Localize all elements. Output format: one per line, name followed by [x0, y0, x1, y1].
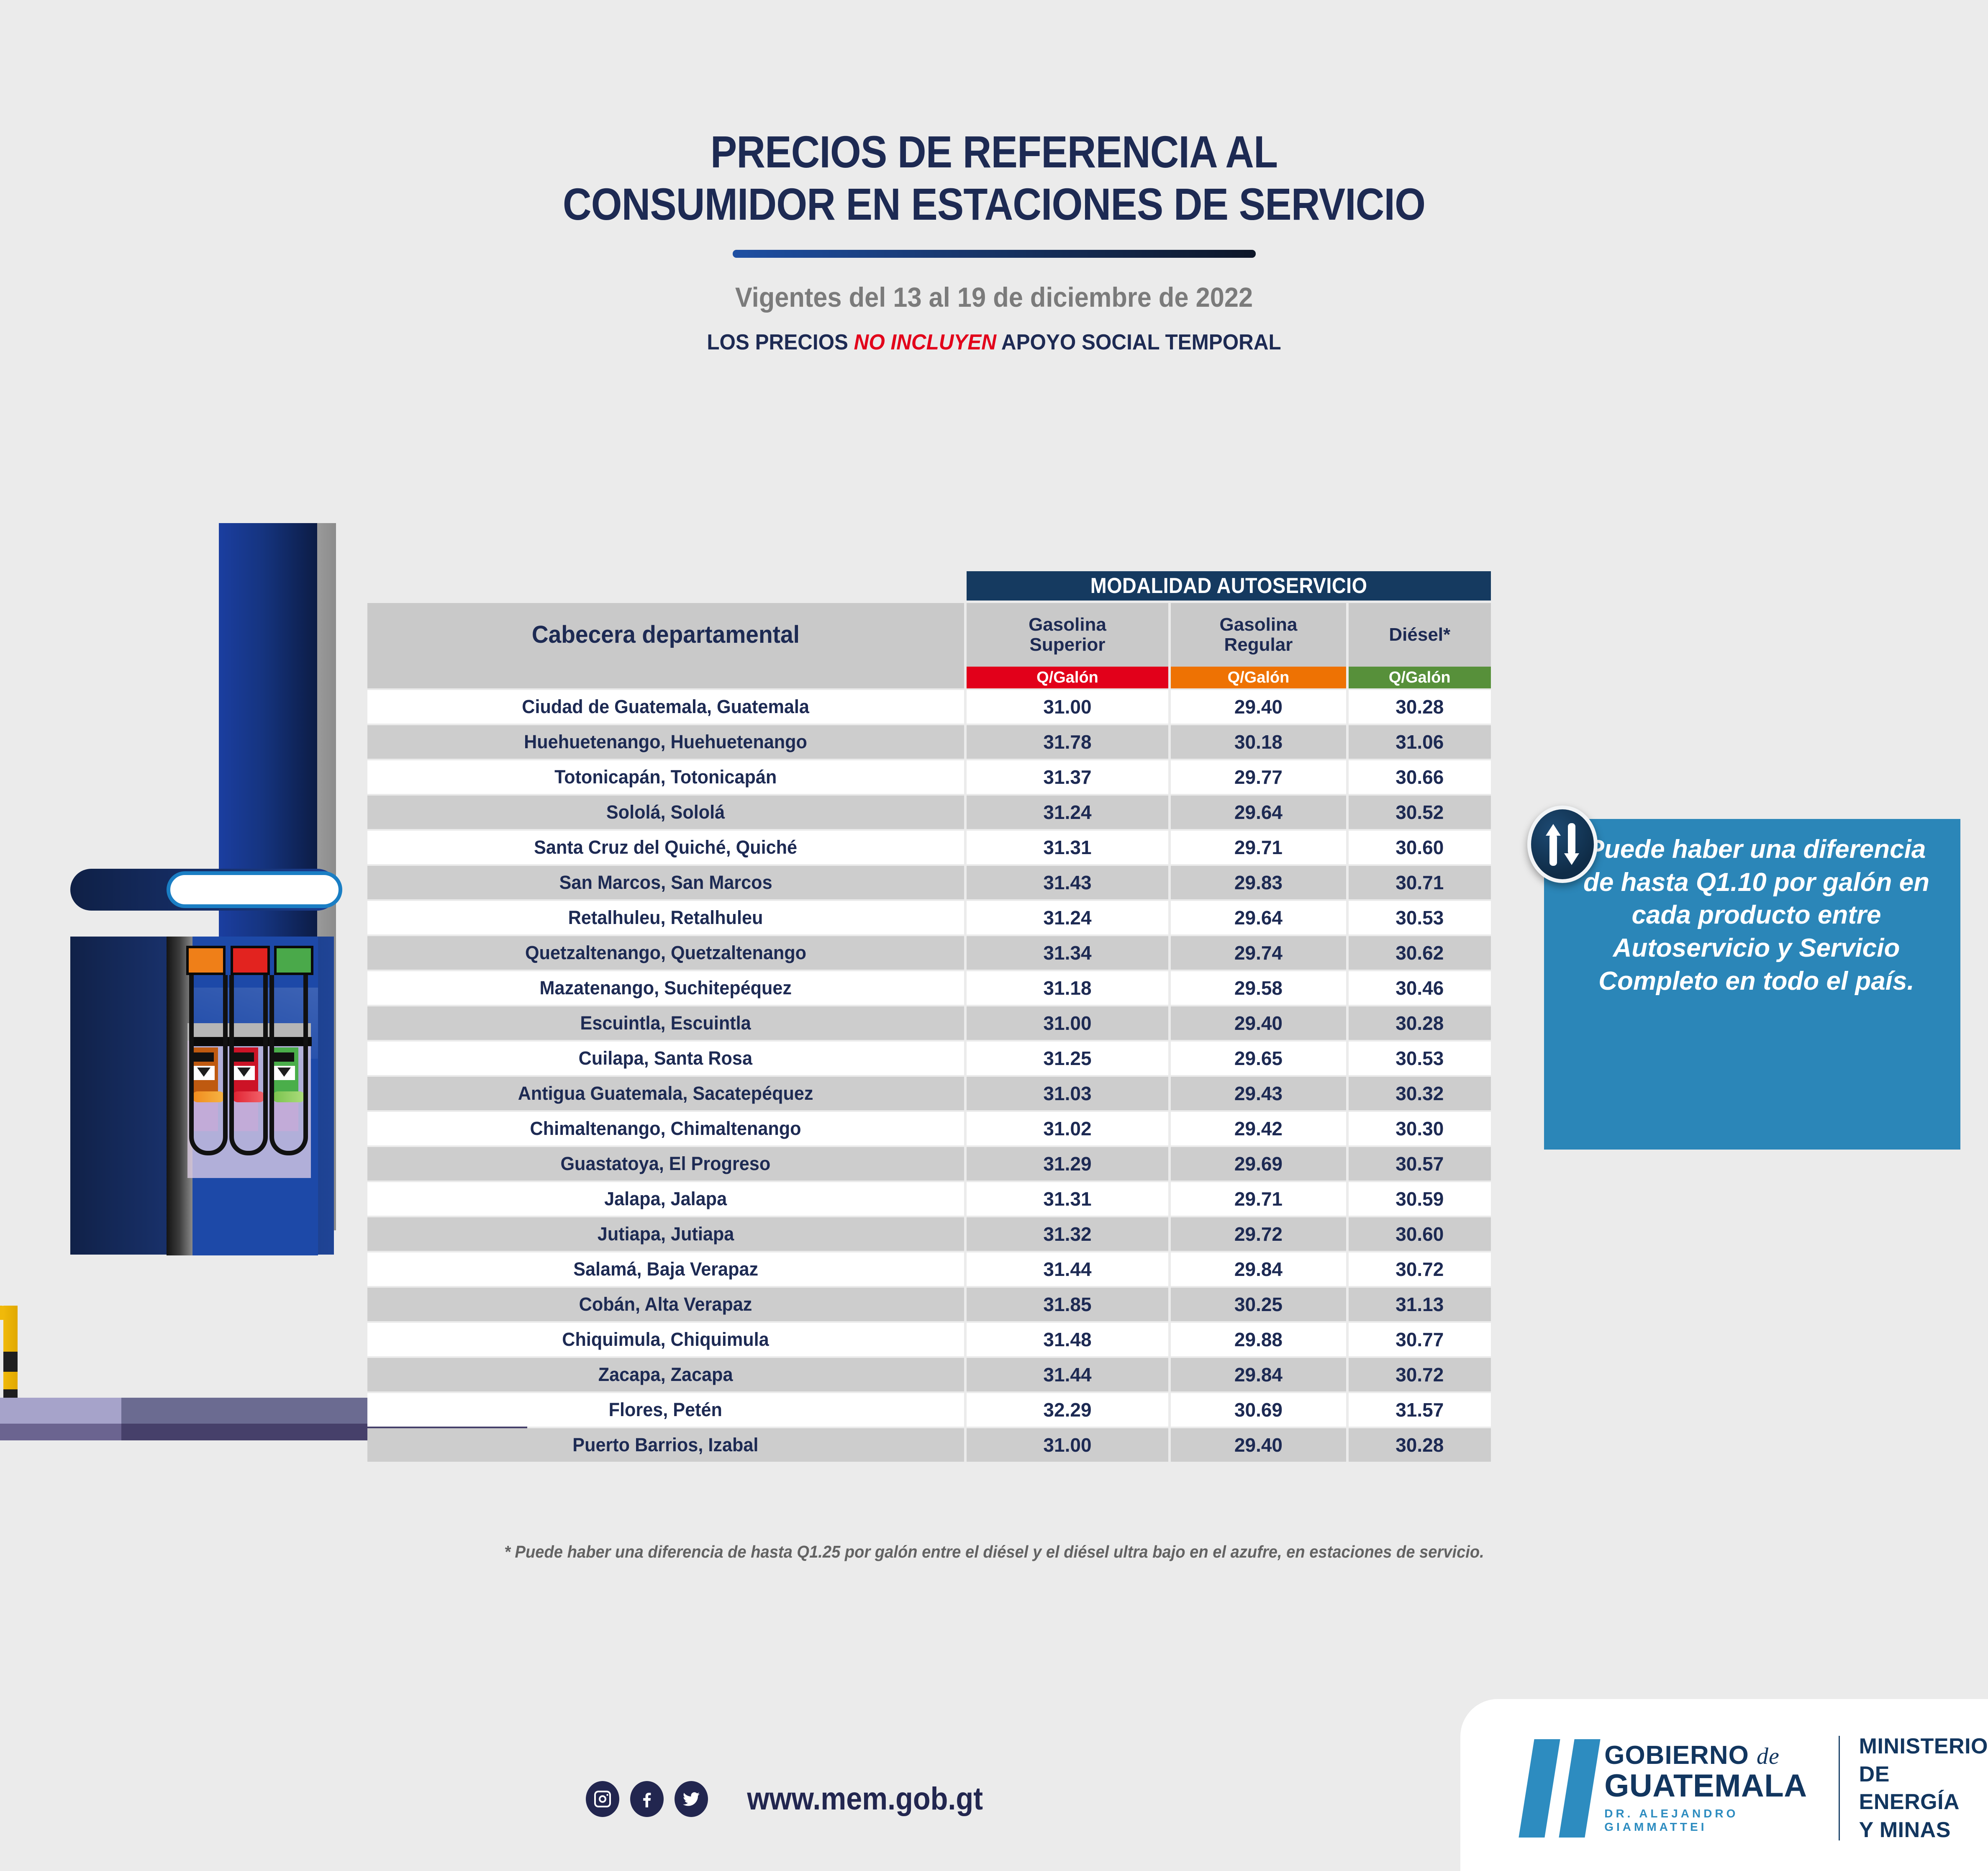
cell-gasolina-superior: 31.00 [967, 690, 1169, 724]
cell-gasolina-superior: 31.34 [967, 936, 1169, 970]
cell-gasolina-superior: 31.29 [967, 1147, 1169, 1181]
cell-cabecera-label: Cobán, Alta Verapaz [579, 1294, 752, 1315]
bollard-stripe-1 [3, 1352, 18, 1372]
cell-gasolina-superior: 31.78 [967, 725, 1169, 759]
table-unit-header-row: Q/Galón Q/Galón Q/Galón [367, 667, 1491, 688]
cell-gasolina-regular: 29.88 [1171, 1323, 1346, 1356]
table-row: Cobán, Alta Verapaz31.8530.2531.13 [367, 1288, 1491, 1321]
cell-gasolina-regular: 29.40 [1171, 1428, 1346, 1462]
cell-gasolina-superior: 31.02 [967, 1112, 1169, 1145]
cell-cabecera: Chimaltenango, Chimaltenango [367, 1112, 964, 1145]
logo-line1: GOBIERNO [1604, 1741, 1757, 1770]
notice-post: APOYO SOCIAL TEMPORAL [996, 330, 1281, 354]
cell-cabecera-label: Huehuetenango, Huehuetenango [524, 731, 807, 753]
fuel-sign-green [274, 946, 313, 975]
cell-gasolina-regular: 29.42 [1171, 1112, 1346, 1145]
cell-cabecera: Cuilapa, Santa Rosa [367, 1042, 964, 1075]
cell-diesel: 30.57 [1349, 1147, 1491, 1181]
cell-gasolina-superior: 31.31 [967, 1182, 1169, 1216]
cell-gasolina-regular: 29.74 [1171, 936, 1346, 970]
cell-cabecera: Quetzaltenango, Quetzaltenango [367, 936, 964, 970]
cell-gasolina-regular: 29.84 [1171, 1358, 1346, 1391]
table-row: Mazatenango, Suchitepéquez31.1829.5830.4… [367, 971, 1491, 1005]
cell-cabecera: Santa Cruz del Quiché, Quiché [367, 831, 964, 864]
title-underline-accent [733, 250, 1256, 258]
cell-diesel: 30.52 [1349, 796, 1491, 829]
table-row: Huehuetenango, Huehuetenango31.7830.1831… [367, 725, 1491, 759]
cell-cabecera-label: Antigua Guatemala, Sacatepéquez [518, 1083, 813, 1104]
cell-diesel: 30.46 [1349, 971, 1491, 1005]
unit-header-superior: Q/Galón [967, 667, 1169, 688]
cell-cabecera-label: Ciudad de Guatemala, Guatemala [522, 696, 809, 718]
cell-gasolina-superior: 31.00 [967, 1006, 1169, 1040]
cell-gasolina-regular: 29.83 [1171, 866, 1346, 899]
diesel-footnote: * Puede haber una diferencia de hasta Q1… [0, 1542, 1988, 1562]
cell-diesel: 31.06 [1349, 725, 1491, 759]
cell-gasolina-superior: 31.24 [967, 901, 1169, 934]
table-row: Jutiapa, Jutiapa31.3229.7230.60 [367, 1217, 1491, 1251]
ministry-line3: Y MINAS [1859, 1816, 1988, 1844]
cell-cabecera: Chiquimula, Chiquimula [367, 1323, 964, 1356]
table-row: San Marcos, San Marcos31.4329.8330.71 [367, 866, 1491, 899]
cell-gasolina-superior: 31.31 [967, 831, 1169, 864]
cell-cabecera-label: Puerto Barrios, Izabal [573, 1434, 759, 1456]
cell-gasolina-superior: 31.44 [967, 1358, 1169, 1391]
cell-gasolina-regular: 29.40 [1171, 1006, 1346, 1040]
cell-cabecera: Salamá, Baja Verapaz [367, 1252, 964, 1286]
cell-cabecera: Puerto Barrios, Izabal [367, 1428, 964, 1462]
cell-diesel: 30.60 [1349, 831, 1491, 864]
callout-text: Puede haber una diferencia de hasta Q1.1… [1544, 819, 1960, 998]
column-header-cabecera: Cabecera departamental [367, 603, 964, 667]
logo-president: DR. ALEJANDRO GIAMMATTEI [1604, 1807, 1819, 1834]
cell-cabecera-label: Chiquimula, Chiquimula [562, 1329, 769, 1350]
cell-gasolina-regular: 29.64 [1171, 901, 1346, 934]
cell-gasolina-superior: 31.85 [967, 1288, 1169, 1321]
cell-diesel: 30.77 [1349, 1323, 1491, 1356]
up-down-arrows-icon [1527, 806, 1598, 883]
col-regular-line1: Gasolina [1220, 614, 1298, 635]
group-header-spacer [367, 571, 967, 601]
group-header-label: MODALIDAD AUTOSERVICIO [1090, 573, 1367, 598]
cell-cabecera-label: Mazatenango, Suchitepéquez [540, 977, 792, 999]
table-row: Puerto Barrios, Izabal31.0029.4030.28 [367, 1428, 1491, 1462]
notice-pre: LOS PRECIOS [707, 330, 854, 354]
cell-gasolina-superior: 31.43 [967, 866, 1169, 899]
col-superior-line1: Gasolina [1029, 614, 1106, 635]
cell-diesel: 30.53 [1349, 1042, 1491, 1075]
cell-diesel: 31.13 [1349, 1288, 1491, 1321]
table-row: Sololá, Sololá31.2429.6430.52 [367, 796, 1491, 829]
cell-cabecera-label: Salamá, Baja Verapaz [573, 1258, 758, 1280]
table-row: Chimaltenango, Chimaltenango31.0229.4230… [367, 1112, 1491, 1145]
cell-gasolina-superior: 31.37 [967, 760, 1169, 794]
table-row: Cuilapa, Santa Rosa31.2529.6530.53 [367, 1042, 1491, 1075]
cell-cabecera-label: Escuintla, Escuintla [580, 1012, 751, 1034]
price-table: MODALIDAD AUTOSERVICIO Cabecera departam… [367, 571, 1491, 1462]
cell-cabecera: Retalhuleu, Retalhuleu [367, 901, 964, 934]
logo-divider [1839, 1736, 1840, 1840]
cell-gasolina-regular: 29.40 [1171, 690, 1346, 724]
cell-cabecera: San Marcos, San Marcos [367, 866, 964, 899]
column-header-gasolina-regular: GasolinaRegular [1171, 603, 1346, 667]
ministry-name: MINISTERIO DE ENERGÍA Y MINAS [1859, 1732, 1988, 1844]
cell-gasolina-regular: 30.25 [1171, 1288, 1346, 1321]
logo-line2: GUATEMALA [1604, 1770, 1819, 1802]
cell-diesel: 30.66 [1349, 760, 1491, 794]
cell-diesel: 30.72 [1349, 1252, 1491, 1286]
cell-gasolina-regular: 30.18 [1171, 725, 1346, 759]
cell-cabecera: Jalapa, Jalapa [367, 1182, 964, 1216]
cell-gasolina-regular: 29.65 [1171, 1042, 1346, 1075]
unit-header-spacer [367, 667, 964, 688]
instagram-icon[interactable] [586, 1781, 619, 1817]
table-row: Escuintla, Escuintla31.0029.4030.28 [367, 1006, 1491, 1040]
column-header-cabecera-label: Cabecera departamental [532, 621, 800, 648]
fuel-sign-orange [186, 946, 226, 975]
government-logo-card: GOBIERNO de GUATEMALA DR. ALEJANDRO GIAM… [1460, 1699, 1988, 1871]
col-diesel-label: Diésel* [1389, 625, 1450, 645]
logo-de: de [1757, 1743, 1780, 1769]
cell-cabecera: Cobán, Alta Verapaz [367, 1288, 964, 1321]
cell-gasolina-regular: 29.64 [1171, 796, 1346, 829]
price-notice: LOS PRECIOS NO INCLUYEN APOYO SOCIAL TEM… [50, 330, 1938, 355]
cell-gasolina-superior: 31.32 [967, 1217, 1169, 1251]
ground-lower-left [0, 1424, 121, 1440]
page-header: PRECIOS DE REFERENCIA AL CONSUMIDOR EN E… [0, 126, 1988, 355]
notice-highlight: NO INCLUYEN [854, 330, 996, 354]
cell-cabecera: Sololá, Sololá [367, 796, 964, 829]
cell-diesel: 30.59 [1349, 1182, 1491, 1216]
table-group-header-row: MODALIDAD AUTOSERVICIO [367, 571, 1491, 601]
cell-gasolina-superior: 31.18 [967, 971, 1169, 1005]
table-row: Retalhuleu, Retalhuleu31.2429.6430.53 [367, 901, 1491, 934]
table-row: Chiquimula, Chiquimula31.4829.8830.77 [367, 1323, 1491, 1356]
cell-diesel: 30.72 [1349, 1358, 1491, 1391]
table-row: Jalapa, Jalapa31.3129.7130.59 [367, 1182, 1491, 1216]
fuel-hose-green [269, 975, 308, 1155]
cell-gasolina-regular: 29.71 [1171, 1182, 1346, 1216]
cell-diesel: 30.30 [1349, 1112, 1491, 1145]
gobierno-wordmark: GOBIERNO de GUATEMALA DR. ALEJANDRO GIAM… [1604, 1743, 1819, 1834]
table-row: Zacapa, Zacapa31.4429.8430.72 [367, 1358, 1491, 1391]
gas-station-illustration [0, 523, 377, 1511]
cell-gasolina-superior: 32.29 [967, 1393, 1169, 1427]
gobierno-mark-bar-1 [1519, 1739, 1560, 1838]
cell-cabecera-label: Retalhuleu, Retalhuleu [568, 907, 763, 929]
cell-gasolina-regular: 30.69 [1171, 1393, 1346, 1427]
cell-gasolina-superior: 31.44 [967, 1252, 1169, 1286]
cell-gasolina-regular: 29.84 [1171, 1252, 1346, 1286]
table-row: Salamá, Baja Verapaz31.4429.8430.72 [367, 1252, 1491, 1286]
cell-cabecera-label: Flores, Petén [609, 1399, 722, 1421]
cell-gasolina-superior: 31.48 [967, 1323, 1169, 1356]
cell-diesel: 31.57 [1349, 1393, 1491, 1427]
gobierno-mark-bar-2 [1559, 1739, 1600, 1838]
cell-cabecera-label: Santa Cruz del Quiché, Quiché [534, 837, 797, 858]
cell-cabecera-label: Guastatoya, El Progreso [561, 1153, 771, 1175]
group-header-autoservicio: MODALIDAD AUTOSERVICIO [967, 571, 1491, 601]
cell-cabecera-label: Quetzaltenango, Quetzaltenango [525, 942, 806, 964]
facebook-icon[interactable] [630, 1781, 664, 1817]
cell-diesel: 30.53 [1349, 901, 1491, 934]
page-title-line2: CONSUMIDOR EN ESTACIONES DE SERVICIO [119, 178, 1869, 230]
table-row: Antigua Guatemala, Sacatepéquez31.0329.4… [367, 1077, 1491, 1110]
cell-gasolina-superior: 31.03 [967, 1077, 1169, 1110]
cell-diesel: 30.28 [1349, 1428, 1491, 1462]
cell-gasolina-regular: 29.43 [1171, 1077, 1346, 1110]
table-column-header-row: Cabecera departamental GasolinaSuperior … [367, 603, 1491, 667]
page-title-line1: PRECIOS DE REFERENCIA AL [119, 126, 1869, 178]
cell-cabecera: Jutiapa, Jutiapa [367, 1217, 964, 1251]
cell-cabecera: Antigua Guatemala, Sacatepéquez [367, 1077, 964, 1110]
twitter-icon[interactable] [675, 1781, 708, 1817]
col-regular-line2: Regular [1224, 634, 1293, 655]
cell-gasolina-superior: 31.00 [967, 1428, 1169, 1462]
validity-subtitle: Vigentes del 13 al 19 de diciembre de 20… [69, 281, 1918, 313]
cell-cabecera-label: San Marcos, San Marcos [559, 872, 772, 893]
cell-diesel: 30.28 [1349, 1006, 1491, 1040]
cell-diesel: 30.62 [1349, 936, 1491, 970]
gobierno-mark-icon [1523, 1739, 1593, 1838]
cell-cabecera-label: Jalapa, Jalapa [604, 1188, 727, 1210]
cell-gasolina-superior: 31.25 [967, 1042, 1169, 1075]
cell-cabecera-label: Jutiapa, Jutiapa [598, 1223, 734, 1245]
column-header-gasolina-superior: GasolinaSuperior [967, 603, 1169, 667]
cell-cabecera: Ciudad de Guatemala, Guatemala [367, 690, 964, 724]
cell-cabecera: Huehuetenango, Huehuetenango [367, 725, 964, 759]
table-row: Santa Cruz del Quiché, Quiché31.3129.713… [367, 831, 1491, 864]
cell-diesel: 30.71 [1349, 866, 1491, 899]
cell-cabecera: Flores, Petén [367, 1393, 964, 1427]
table-row: Quetzaltenango, Quetzaltenango31.3429.74… [367, 936, 1491, 970]
fuel-hose-red [229, 975, 268, 1155]
cell-cabecera: Mazatenango, Suchitepéquez [367, 971, 964, 1005]
cell-gasolina-regular: 29.72 [1171, 1217, 1346, 1251]
cell-diesel: 30.60 [1349, 1217, 1491, 1251]
cell-diesel: 30.28 [1349, 690, 1491, 724]
cell-cabecera: Totonicapán, Totonicapán [367, 760, 964, 794]
ministry-line2: DE ENERGÍA [1859, 1761, 1988, 1816]
ground-upper-left [0, 1398, 121, 1424]
callout-box: Puede haber una diferencia de hasta Q1.1… [1544, 819, 1960, 1150]
cell-cabecera: Zacapa, Zacapa [367, 1358, 964, 1391]
cell-cabecera-label: Cuilapa, Santa Rosa [579, 1047, 752, 1069]
cell-gasolina-regular: 29.69 [1171, 1147, 1346, 1181]
cell-cabecera-label: Zacapa, Zacapa [598, 1364, 733, 1386]
cell-cabecera: Escuintla, Escuintla [367, 1006, 964, 1040]
unit-header-regular: Q/Galón [1171, 667, 1346, 688]
cell-cabecera-label: Sololá, Sololá [606, 801, 725, 823]
table-row: Flores, Petén32.2930.6931.57 [367, 1393, 1491, 1427]
fuel-hose-orange [189, 975, 228, 1155]
cell-gasolina-regular: 29.71 [1171, 831, 1346, 864]
canopy-sign [167, 871, 342, 908]
unit-header-diesel: Q/Galón [1349, 667, 1491, 688]
social-links: www.mem.gob.gt [586, 1781, 996, 1817]
table-body: Ciudad de Guatemala, Guatemala31.0029.40… [367, 690, 1491, 1462]
cell-cabecera-label: Chimaltenango, Chimaltenango [530, 1118, 801, 1140]
cell-cabecera: Guastatoya, El Progreso [367, 1147, 964, 1181]
cell-cabecera-label: Totonicapán, Totonicapán [554, 766, 777, 788]
column-header-diesel: Diésel* [1349, 603, 1491, 667]
table-row: Guastatoya, El Progreso31.2929.6930.57 [367, 1147, 1491, 1181]
fuel-sign-red [231, 946, 270, 975]
cell-diesel: 30.32 [1349, 1077, 1491, 1110]
diesel-footnote-text: * Puede haber una diferencia de hasta Q1… [504, 1542, 1484, 1562]
website-url[interactable]: www.mem.gob.gt [747, 1781, 983, 1817]
cell-gasolina-regular: 29.77 [1171, 760, 1346, 794]
cell-gasolina-regular: 29.58 [1171, 971, 1346, 1005]
col-superior-line2: Superior [1030, 634, 1106, 655]
ministry-line1: MINISTERIO [1859, 1732, 1988, 1761]
table-row: Ciudad de Guatemala, Guatemala31.0029.40… [367, 690, 1491, 724]
table-row: Totonicapán, Totonicapán31.3729.7730.66 [367, 760, 1491, 794]
cell-gasolina-superior: 31.24 [967, 796, 1169, 829]
